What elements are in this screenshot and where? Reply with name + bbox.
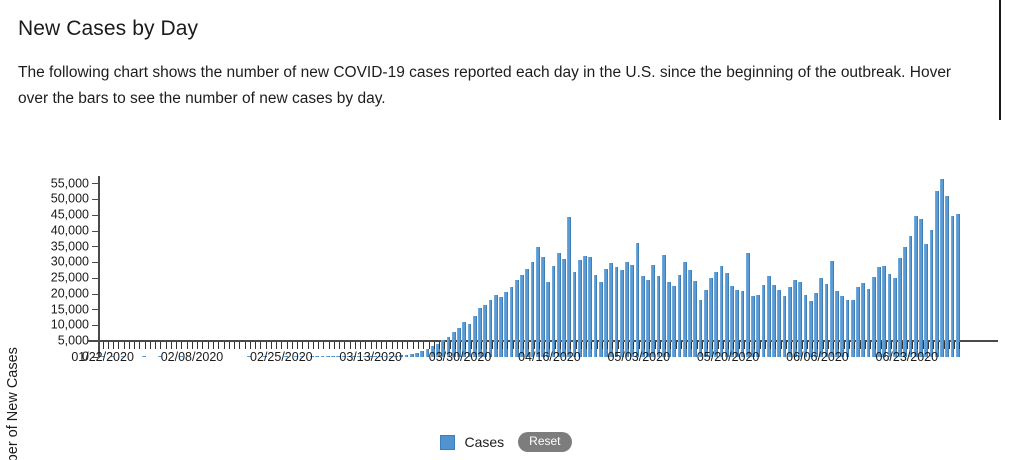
x-axis-tick-mark bbox=[276, 342, 277, 349]
x-axis-tick-mark bbox=[865, 342, 866, 349]
x-axis-tick-label: 02/25/2020 bbox=[250, 350, 313, 364]
x-axis-tick-mark bbox=[439, 342, 440, 349]
x-axis-tick-mark bbox=[192, 342, 193, 349]
x-axis-tick-mark bbox=[528, 342, 529, 349]
x-axis-tick-mark bbox=[828, 342, 829, 349]
bar[interactable] bbox=[536, 247, 540, 357]
x-axis-tick-mark bbox=[581, 342, 582, 349]
bar[interactable] bbox=[914, 216, 918, 357]
x-axis-tick-mark bbox=[323, 342, 324, 349]
x-axis-tick-mark bbox=[381, 342, 382, 349]
x-axis-tick-mark bbox=[781, 342, 782, 349]
legend-series-label: Cases bbox=[464, 434, 504, 450]
x-axis-tick-mark bbox=[150, 342, 151, 349]
x-axis-tick-mark bbox=[245, 342, 246, 349]
x-axis-tick-mark bbox=[344, 342, 345, 349]
covid-new-cases-page: New Cases by Day The following chart sho… bbox=[0, 0, 1012, 460]
x-axis-tick-mark bbox=[418, 342, 419, 349]
x-axis-tick-mark bbox=[429, 342, 430, 349]
x-axis-tick-mark bbox=[202, 342, 203, 349]
x-axis-tick-label: 05/03/2020 bbox=[607, 350, 670, 364]
x-axis-tick-mark bbox=[313, 342, 314, 349]
x-axis-tick-label: 02/08/2020 bbox=[161, 350, 224, 364]
x-axis-tick-mark bbox=[702, 342, 703, 349]
x-axis-tick-mark bbox=[612, 342, 613, 349]
bar[interactable] bbox=[930, 230, 934, 357]
x-axis-tick-mark bbox=[823, 342, 824, 349]
x-axis-tick-mark bbox=[770, 342, 771, 349]
x-axis-tick-mark bbox=[376, 342, 377, 349]
x-axis-tick-mark bbox=[739, 342, 740, 349]
x-axis-tick-mark bbox=[959, 342, 960, 349]
x-axis-tick-mark bbox=[628, 342, 629, 349]
x-axis-tick-mark bbox=[402, 342, 403, 349]
x-axis-tick-mark bbox=[602, 342, 603, 349]
x-axis-tick-mark bbox=[760, 342, 761, 349]
x-axis-tick-mark bbox=[644, 342, 645, 349]
x-axis-tick-mark bbox=[833, 342, 834, 349]
x-axis-tick-mark bbox=[618, 342, 619, 349]
x-axis-tick-mark bbox=[113, 342, 114, 349]
x-axis-tick-mark bbox=[539, 342, 540, 349]
x-axis-tick-mark bbox=[860, 342, 861, 349]
x-axis-tick-mark bbox=[397, 342, 398, 349]
x-axis-tick-mark bbox=[318, 342, 319, 349]
x-axis-tick-mark bbox=[655, 342, 656, 349]
x-axis-tick-mark bbox=[591, 342, 592, 349]
x-axis-tick-mark bbox=[266, 342, 267, 349]
x-axis-tick-mark bbox=[255, 342, 256, 349]
x-axis-tick-mark bbox=[754, 342, 755, 349]
bar[interactable] bbox=[903, 247, 907, 357]
x-axis-tick-mark bbox=[239, 342, 240, 349]
x-axis-tick-mark bbox=[923, 342, 924, 349]
x-axis-tick-mark bbox=[718, 342, 719, 349]
x-axis-tick-mark bbox=[308, 342, 309, 349]
x-axis-tick-mark bbox=[486, 342, 487, 349]
x-axis-tick-mark bbox=[807, 342, 808, 349]
x-axis-tick-label: 06/23/2020 bbox=[876, 350, 939, 364]
x-axis-tick-mark bbox=[854, 342, 855, 349]
x-axis-tick-mark bbox=[523, 342, 524, 349]
x-axis-tick-mark bbox=[665, 342, 666, 349]
y-axis-tick-label: 40,000 bbox=[51, 224, 89, 237]
x-axis-tick-mark bbox=[633, 342, 634, 349]
y-axis-ticks: 05,00010,00015,00020,00025,00030,00035,0… bbox=[0, 176, 98, 357]
x-axis-tick-mark bbox=[875, 342, 876, 349]
x-axis-tick-mark bbox=[281, 342, 282, 349]
x-axis-tick-mark bbox=[933, 342, 934, 349]
legend-color-swatch-icon bbox=[440, 435, 455, 450]
x-axis-tick-mark bbox=[160, 342, 161, 349]
x-axis-tick-label: 03/13/2020 bbox=[339, 350, 402, 364]
reset-button[interactable]: Reset bbox=[518, 432, 571, 452]
x-axis-tick-mark bbox=[513, 342, 514, 349]
x-axis-tick-mark bbox=[549, 342, 550, 349]
x-axis-tick-mark bbox=[691, 342, 692, 349]
x-axis-tick-mark bbox=[455, 342, 456, 349]
x-axis-tick-mark bbox=[329, 342, 330, 349]
bar[interactable] bbox=[945, 196, 949, 357]
x-axis-tick-mark bbox=[791, 342, 792, 349]
x-axis-tick-mark bbox=[350, 342, 351, 349]
x-axis-tick-mark bbox=[218, 342, 219, 349]
x-axis-tick-mark bbox=[465, 342, 466, 349]
bar[interactable] bbox=[919, 219, 923, 357]
x-axis-tick-mark bbox=[896, 342, 897, 349]
x-axis-tick-label: 06/06/2020 bbox=[786, 350, 849, 364]
x-axis-tick-label: 05/20/2020 bbox=[697, 350, 760, 364]
x-axis-tick-mark bbox=[681, 342, 682, 349]
y-axis-tick-label: 10,000 bbox=[51, 319, 89, 332]
x-axis-tick-mark bbox=[623, 342, 624, 349]
x-axis-tick-mark bbox=[497, 342, 498, 349]
y-axis-tick-label: 30,000 bbox=[51, 256, 89, 269]
x-axis-tick-mark bbox=[881, 342, 882, 349]
page-description: The following chart shows the number of … bbox=[18, 60, 963, 112]
x-axis-tick-mark bbox=[723, 342, 724, 349]
x-axis-tick-mark bbox=[176, 342, 177, 349]
bar[interactable] bbox=[924, 244, 928, 357]
x-axis-tick-mark bbox=[849, 342, 850, 349]
x-axis-tick-mark bbox=[145, 342, 146, 349]
x-axis-tick-mark bbox=[555, 342, 556, 349]
x-axis-tick-mark bbox=[302, 342, 303, 349]
x-axis-tick-mark bbox=[518, 342, 519, 349]
x-axis-tick-mark bbox=[155, 342, 156, 349]
bar-series-cases[interactable] bbox=[100, 176, 962, 357]
bar[interactable] bbox=[636, 243, 640, 357]
x-axis-tick-mark bbox=[670, 342, 671, 349]
x-axis-tick-mark bbox=[586, 342, 587, 349]
x-axis-tick-mark bbox=[481, 342, 482, 349]
x-axis-tick-mark bbox=[224, 342, 225, 349]
x-axis-tick-mark bbox=[891, 342, 892, 349]
x-axis-tick-mark bbox=[297, 342, 298, 349]
x-axis-tick-mark bbox=[844, 342, 845, 349]
x-axis-tick-mark bbox=[886, 342, 887, 349]
x-axis-tick-mark bbox=[287, 342, 288, 349]
x-axis-tick-mark bbox=[271, 342, 272, 349]
x-axis-tick-mark bbox=[802, 342, 803, 349]
bar[interactable] bbox=[956, 214, 960, 357]
x-axis-tick-mark bbox=[234, 342, 235, 349]
y-axis-tick-label: 15,000 bbox=[51, 303, 89, 316]
x-axis-tick-mark bbox=[476, 342, 477, 349]
x-axis-tick-mark bbox=[697, 342, 698, 349]
x-axis-tick-mark bbox=[371, 342, 372, 349]
x-axis-tick-label: 04/16/2020 bbox=[518, 350, 581, 364]
x-axis-tick-label: 03/30/2020 bbox=[429, 350, 492, 364]
x-axis-tick-mark bbox=[749, 342, 750, 349]
x-axis-tick-mark bbox=[103, 342, 104, 349]
x-axis-tick-mark bbox=[812, 342, 813, 349]
x-axis-tick-mark bbox=[460, 342, 461, 349]
x-axis-tick-mark bbox=[534, 342, 535, 349]
x-axis-tick-mark bbox=[707, 342, 708, 349]
x-axis-tick-mark bbox=[712, 342, 713, 349]
bar[interactable] bbox=[951, 216, 955, 357]
x-axis-tick-mark bbox=[928, 342, 929, 349]
x-axis-tick-mark bbox=[365, 342, 366, 349]
x-axis-tick-mark bbox=[938, 342, 939, 349]
x-axis-tick-mark bbox=[733, 342, 734, 349]
x-axis-tick-mark bbox=[260, 342, 261, 349]
x-axis-tick-labels: 01/22/202002/08/202002/25/202003/13/2020… bbox=[0, 350, 1012, 368]
x-axis-tick-mark bbox=[355, 342, 356, 349]
x-axis-tick-mark bbox=[360, 342, 361, 349]
x-axis-tick-mark bbox=[187, 342, 188, 349]
bar[interactable] bbox=[909, 236, 913, 357]
x-axis-tick-mark bbox=[775, 342, 776, 349]
x-axis-tick-mark bbox=[660, 342, 661, 349]
bar[interactable] bbox=[940, 179, 944, 357]
y-axis-tick-label: 35,000 bbox=[51, 240, 89, 253]
x-axis-tick-mark bbox=[728, 342, 729, 349]
x-axis-tick-mark bbox=[423, 342, 424, 349]
page-right-border bbox=[999, 0, 1001, 120]
x-axis-tick-mark bbox=[334, 342, 335, 349]
x-axis-tick-mark bbox=[786, 342, 787, 349]
x-axis-tick-mark bbox=[649, 342, 650, 349]
new-cases-bar-chart[interactable]: Number of New Cases 05,00010,00015,00020… bbox=[0, 160, 1012, 460]
x-axis-tick-mark bbox=[181, 342, 182, 349]
bar[interactable] bbox=[935, 191, 939, 357]
x-axis-tick-mark bbox=[413, 342, 414, 349]
x-axis-tick-mark bbox=[944, 342, 945, 349]
x-axis-tick-mark bbox=[597, 342, 598, 349]
x-axis-tick-mark bbox=[576, 342, 577, 349]
x-axis-tick-mark bbox=[129, 342, 130, 349]
x-axis-tick-mark bbox=[108, 342, 109, 349]
x-axis-tick-mark bbox=[471, 342, 472, 349]
x-axis-tick-mark bbox=[560, 342, 561, 349]
y-axis-tick-label: 50,000 bbox=[51, 193, 89, 206]
x-axis-tick-mark bbox=[870, 342, 871, 349]
x-axis-tick-mark bbox=[166, 342, 167, 349]
x-axis-tick-label: 01/22/2020 bbox=[71, 350, 134, 364]
x-axis-tick-mark bbox=[765, 342, 766, 349]
x-axis-tick-mark bbox=[676, 342, 677, 349]
x-axis-tick-mark bbox=[250, 342, 251, 349]
x-axis-tick-mark bbox=[124, 342, 125, 349]
x-axis-tick-mark bbox=[386, 342, 387, 349]
x-axis-tick-mark bbox=[197, 342, 198, 349]
x-axis-tick-mark bbox=[134, 342, 135, 349]
x-axis-tick-mark bbox=[118, 342, 119, 349]
x-axis-ticks bbox=[100, 342, 962, 349]
x-axis-tick-mark bbox=[434, 342, 435, 349]
x-axis-tick-mark bbox=[392, 342, 393, 349]
x-axis-tick-mark bbox=[565, 342, 566, 349]
x-axis-tick-mark bbox=[907, 342, 908, 349]
x-axis-tick-mark bbox=[171, 342, 172, 349]
x-axis-tick-mark bbox=[817, 342, 818, 349]
x-axis-tick-mark bbox=[949, 342, 950, 349]
x-axis-tick-mark bbox=[838, 342, 839, 349]
y-axis-tick-label: 25,000 bbox=[51, 272, 89, 285]
bar[interactable] bbox=[567, 217, 571, 357]
x-axis-tick-mark bbox=[229, 342, 230, 349]
x-axis-tick-mark bbox=[796, 342, 797, 349]
x-axis-tick-mark bbox=[407, 342, 408, 349]
x-axis-tick-mark bbox=[686, 342, 687, 349]
x-axis-tick-mark bbox=[292, 342, 293, 349]
chart-legend: Cases Reset bbox=[0, 432, 1012, 452]
x-axis-tick-mark bbox=[912, 342, 913, 349]
x-axis-tick-mark bbox=[570, 342, 571, 349]
x-axis-tick-mark bbox=[208, 342, 209, 349]
x-axis-tick-mark bbox=[902, 342, 903, 349]
y-axis-tick-label: 20,000 bbox=[51, 287, 89, 300]
x-axis-tick-mark bbox=[607, 342, 608, 349]
x-axis-tick-mark bbox=[917, 342, 918, 349]
y-axis-tick-label: 45,000 bbox=[51, 209, 89, 222]
x-axis-tick-mark bbox=[544, 342, 545, 349]
x-axis-tick-mark bbox=[744, 342, 745, 349]
x-axis-tick-mark bbox=[639, 342, 640, 349]
y-axis-tick-label: 5,000 bbox=[58, 335, 89, 348]
x-axis-tick-mark bbox=[339, 342, 340, 349]
y-axis-tick-label: 55,000 bbox=[51, 177, 89, 190]
x-axis-tick-mark bbox=[450, 342, 451, 349]
x-axis-tick-mark bbox=[954, 342, 955, 349]
x-axis-tick-mark bbox=[139, 342, 140, 349]
page-title: New Cases by Day bbox=[18, 17, 198, 41]
x-axis-tick-mark bbox=[507, 342, 508, 349]
x-axis-tick-mark bbox=[213, 342, 214, 349]
x-axis-tick-mark bbox=[444, 342, 445, 349]
x-axis-tick-mark bbox=[502, 342, 503, 349]
x-axis-tick-mark bbox=[492, 342, 493, 349]
